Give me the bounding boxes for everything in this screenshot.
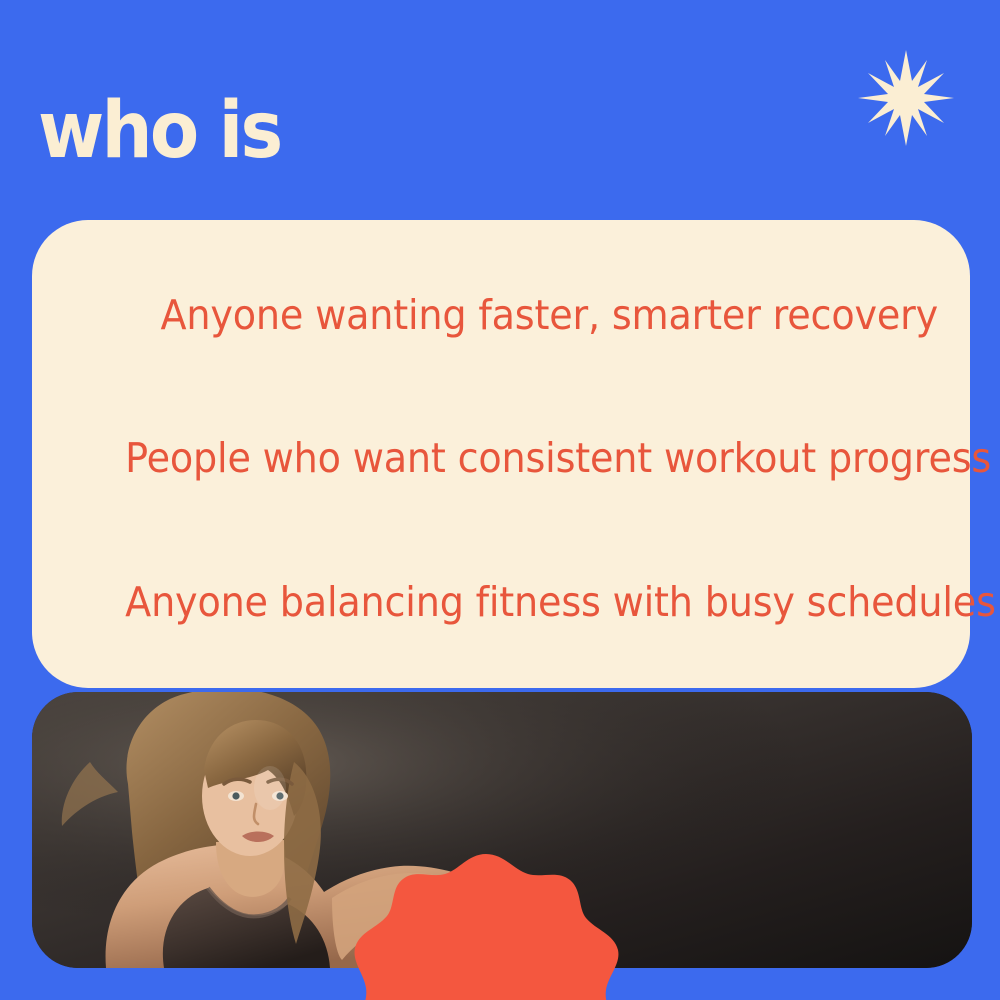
benefit-item-2: People who want consistent workout progr… [125, 437, 938, 480]
starburst-sparkle-icon [856, 48, 956, 148]
benefit-item-3: Anyone balancing fitness with busy sched… [125, 581, 938, 624]
benefit-item-1: Anyone wanting faster, smarter recovery [125, 294, 938, 337]
benefits-card: Anyone wanting faster, smarter recovery … [32, 220, 970, 688]
slide-canvas: who is this for? Anyone wanting faster, … [0, 0, 1000, 1000]
coral-flower-blob-shape [352, 852, 620, 1000]
page-title-line-1: who is [38, 96, 553, 168]
